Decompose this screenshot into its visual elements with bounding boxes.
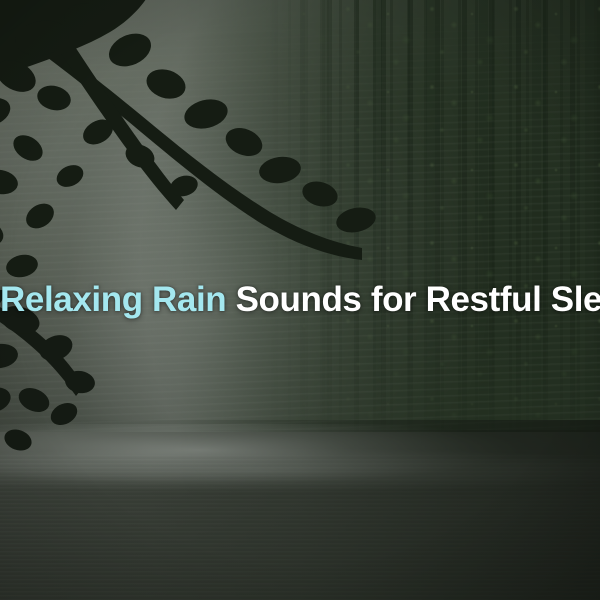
title-container: Relaxing Rain Sounds for Restful Sleep xyxy=(0,0,600,600)
title-accent-text: Relaxing Rain xyxy=(0,280,226,319)
title-plain-text: Sounds for Restful Sleep xyxy=(226,280,600,319)
cover-title: Relaxing Rain Sounds for Restful Sleep xyxy=(0,281,600,319)
album-cover-artwork: Relaxing Rain Sounds for Restful Sleep xyxy=(0,0,600,600)
